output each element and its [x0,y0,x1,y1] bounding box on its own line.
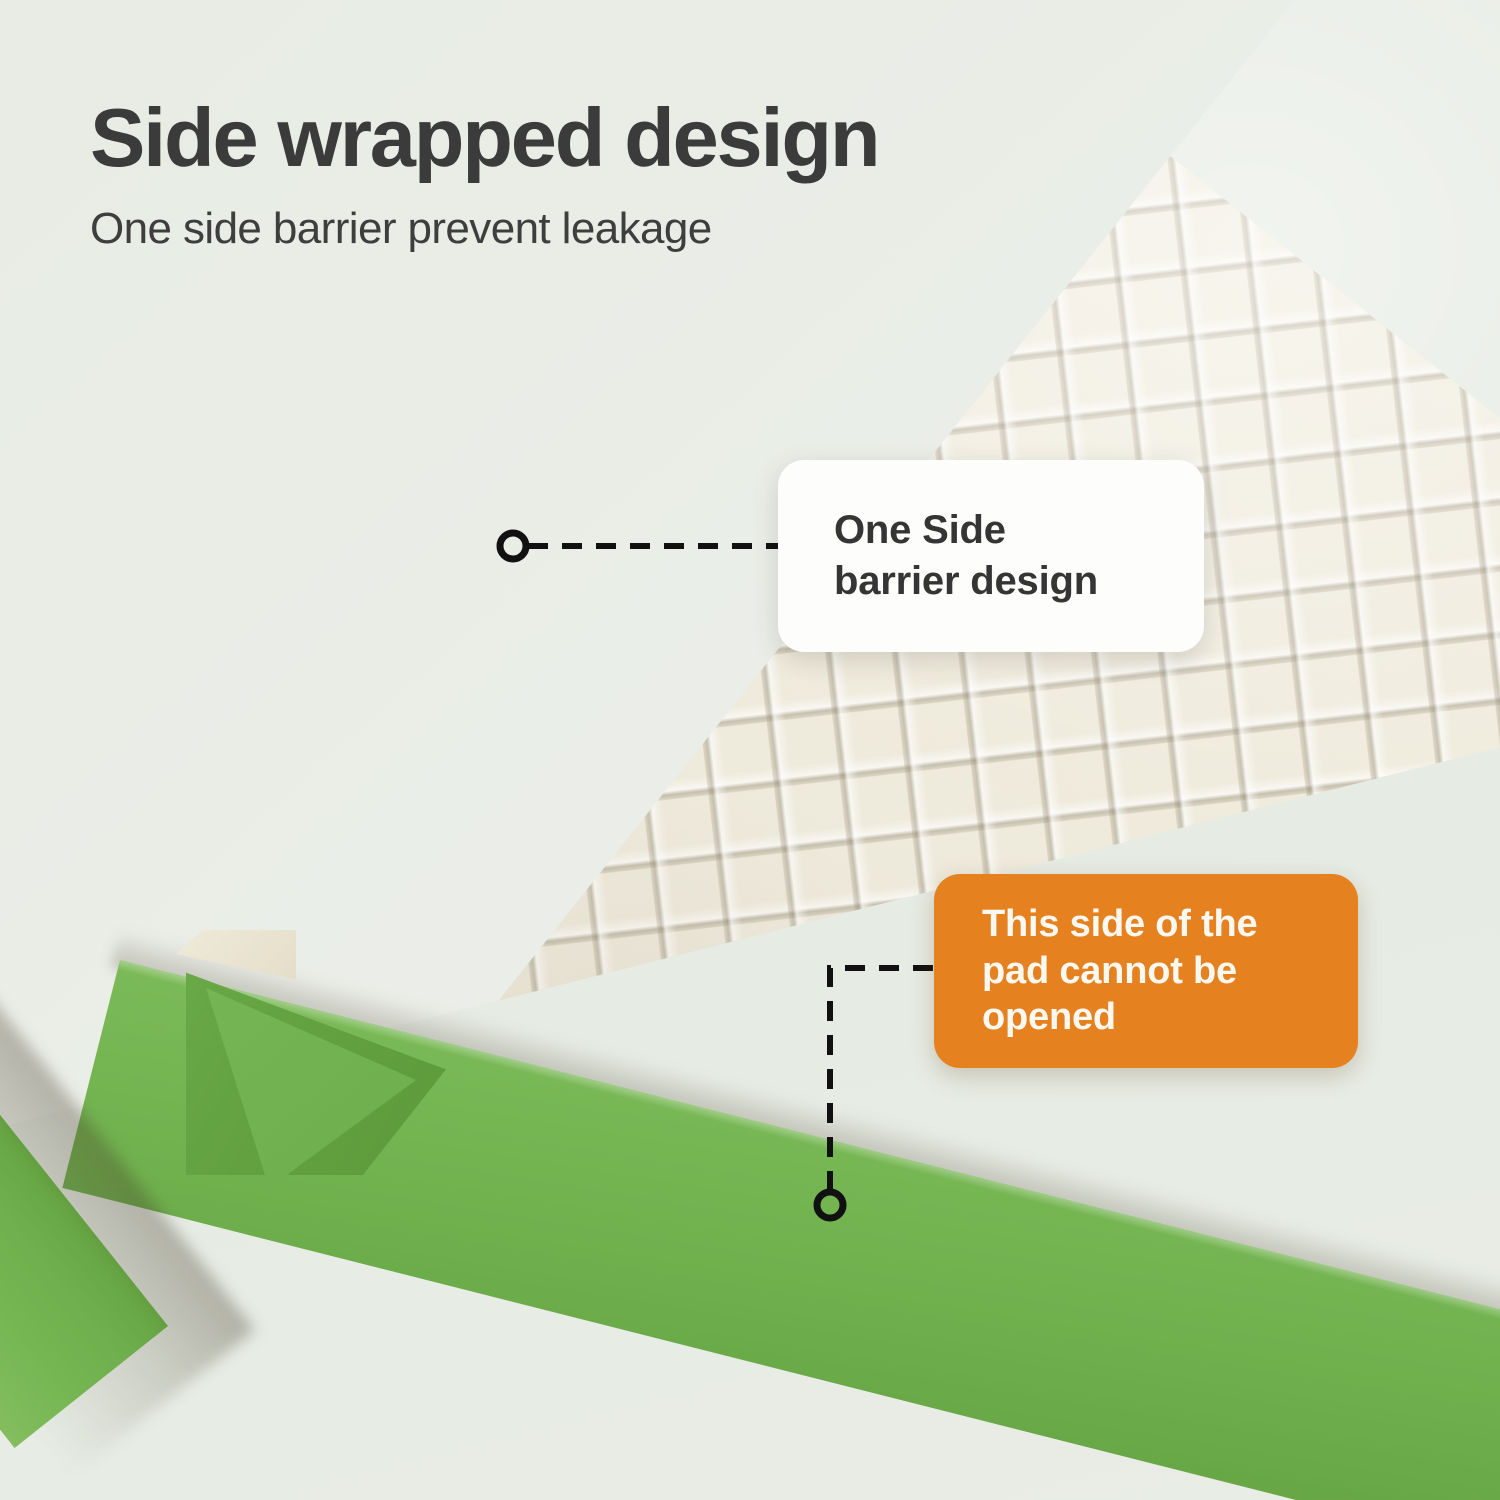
callout-cannot-be-opened[interactable]: This side of the pad cannot be opened [934,874,1358,1068]
callout-orange-line-3: opened [982,994,1258,1040]
callout-orange-line-1: This side of the [982,901,1258,947]
callout-white-text: One Side barrier design [834,505,1098,607]
heading-block: Side wrapped design One side barrier pre… [90,96,1270,253]
infographic-canvas: One Side barrier design This side of the… [0,0,1500,1500]
callout-one-side-barrier[interactable]: One Side barrier design [778,460,1204,652]
callout-orange-text: This side of the pad cannot be opened [982,901,1258,1040]
callout-orange-line-2: pad cannot be [982,948,1258,994]
page-title: Side wrapped design [90,96,1270,181]
callout-white-line-1: One Side [834,505,1098,556]
callout-white-line-2: barrier design [834,556,1098,607]
page-subtitle: One side barrier prevent leakage [90,205,1270,253]
